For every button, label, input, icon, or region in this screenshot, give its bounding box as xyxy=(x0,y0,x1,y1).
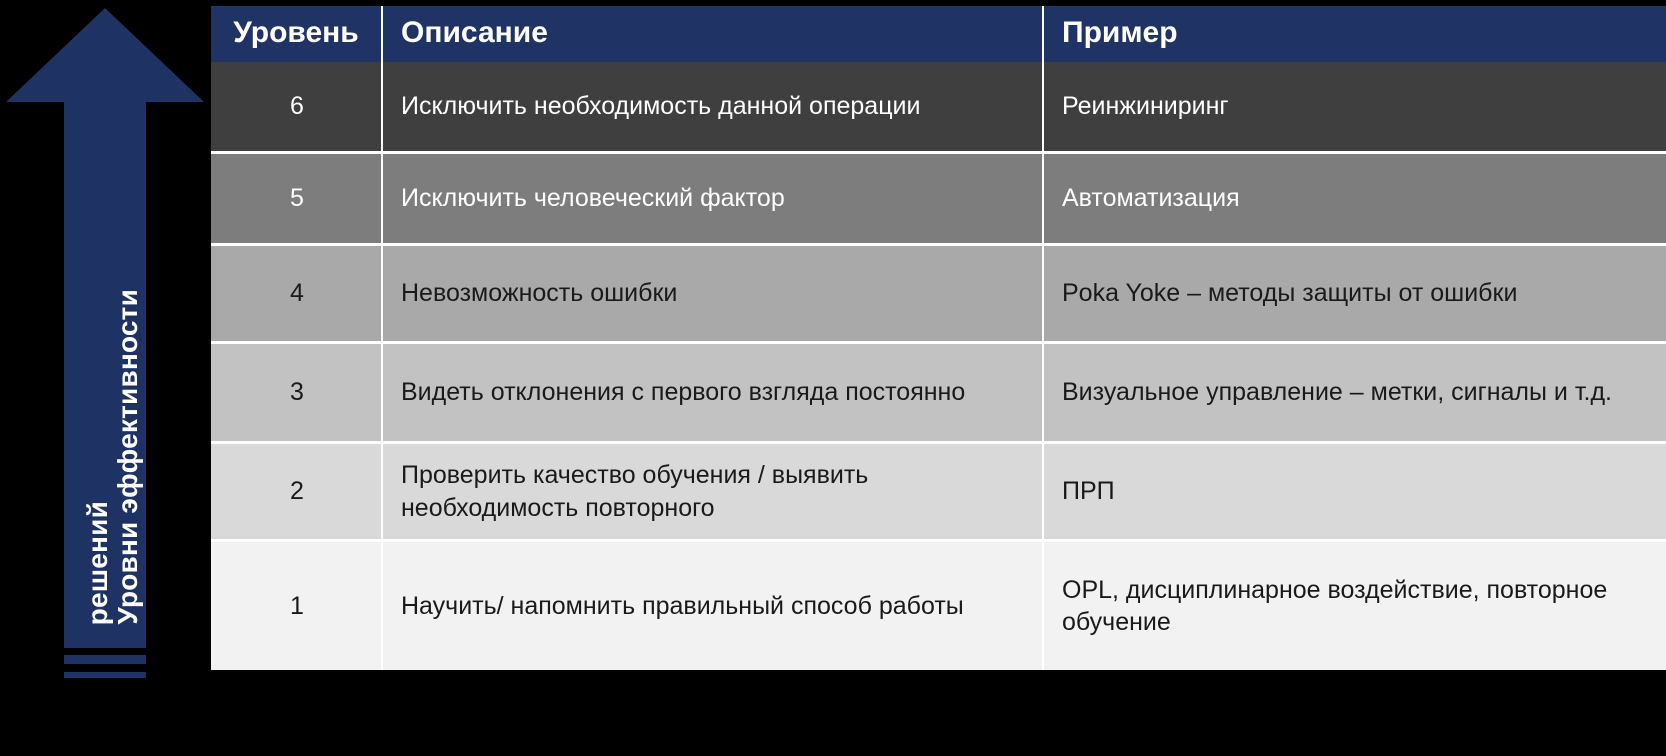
column-header-level: Уровень xyxy=(211,6,383,62)
cell-level: 6 xyxy=(211,62,383,154)
cell-example: Визуальное управление – метки, сигналы и… xyxy=(1044,344,1666,444)
cell-description: Невозможность ошибки xyxy=(383,246,1044,344)
arrow-base-stripe-1 xyxy=(64,655,146,664)
effectiveness-axis-arrow: Уровни эффективности решений xyxy=(0,0,210,700)
cell-description: Исключить человеческий фактор xyxy=(383,154,1044,246)
cell-description: Научить/ напомнить правильный способ раб… xyxy=(383,542,1044,670)
up-arrow-icon xyxy=(0,0,210,650)
cell-level: 2 xyxy=(211,444,383,542)
cell-example: Автоматизация xyxy=(1044,154,1666,246)
cell-example: Реинжиниринг xyxy=(1044,62,1666,154)
column-header-example: Пример xyxy=(1044,6,1666,62)
table-row: 5 Исключить человеческий фактор Автомати… xyxy=(211,154,1666,246)
cell-example: Poka Yoke – методы защиты от ошибки xyxy=(1044,246,1666,344)
table-row: 3 Видеть отклонения с первого взгляда по… xyxy=(211,344,1666,444)
cell-level: 4 xyxy=(211,246,383,344)
cell-description: Проверить качество обучения / выявить не… xyxy=(383,444,1044,542)
arrow-base-stripe-2 xyxy=(64,672,146,678)
cell-level: 1 xyxy=(211,542,383,670)
table-header-row: Уровень Описание Пример xyxy=(211,6,1666,62)
cell-level: 5 xyxy=(211,154,383,246)
table-row: 4 Невозможность ошибки Poka Yoke – метод… xyxy=(211,246,1666,344)
slide-canvas: Уровни эффективности решений Уровень Опи… xyxy=(0,0,1666,756)
column-header-description: Описание xyxy=(383,6,1044,62)
table-row: 1 Научить/ напомнить правильный способ р… xyxy=(211,542,1666,670)
cell-description: Исключить необходимость данной операции xyxy=(383,62,1044,154)
levels-table: Уровень Описание Пример 6 Исключить необ… xyxy=(211,6,1666,670)
cell-level: 3 xyxy=(211,344,383,444)
cell-example: ПРП xyxy=(1044,444,1666,542)
table-row: 6 Исключить необходимость данной операци… xyxy=(211,62,1666,154)
cell-example: OPL, дисциплинарное воздействие, повторн… xyxy=(1044,542,1666,670)
table-row: 2 Проверить качество обучения / выявить … xyxy=(211,444,1666,542)
cell-description: Видеть отклонения с первого взгляда пост… xyxy=(383,344,1044,444)
